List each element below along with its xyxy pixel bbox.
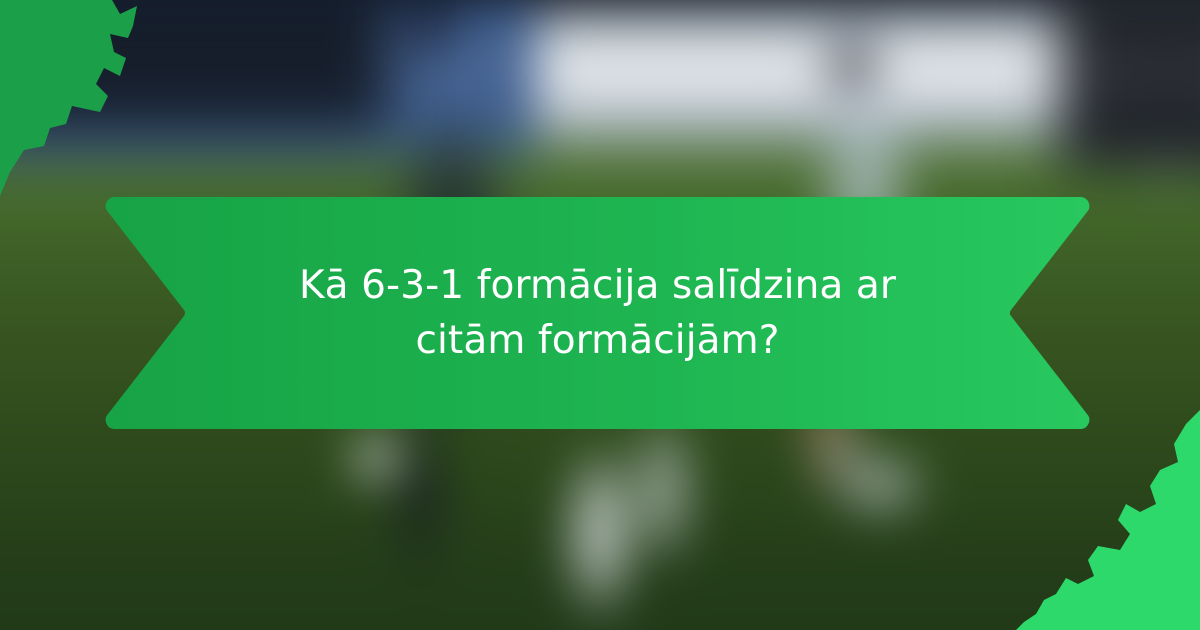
torn-green-corner-top-left [0,0,190,230]
page-title: Kā 6-3-1 formācija salīdzina ar citām fo… [278,258,918,369]
ribbon-banner: Kā 6-3-1 formācija salīdzina ar citām fo… [105,197,1090,429]
torn-green-corner-bottom-right [1000,400,1200,630]
share-card-canvas: Kā 6-3-1 formācija salīdzina ar citām fo… [0,0,1200,630]
banner-text-block: Kā 6-3-1 formācija salīdzina ar citām fo… [105,197,1090,429]
background-shadow-top-right [1060,0,1200,170]
